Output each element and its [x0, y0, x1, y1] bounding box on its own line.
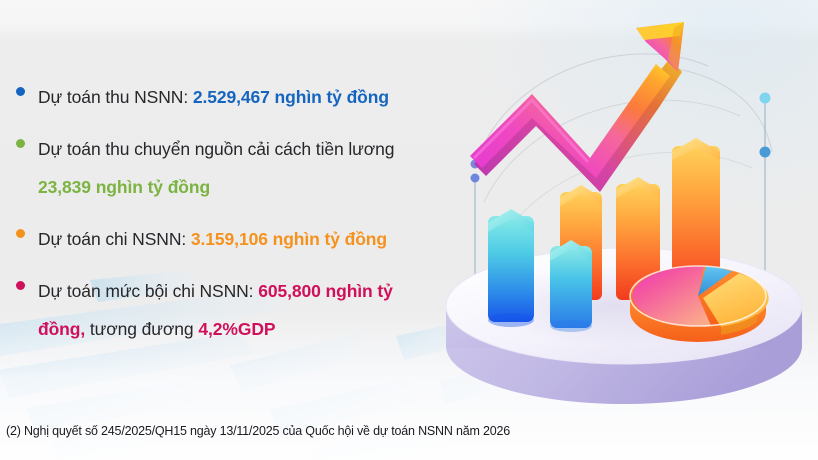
list-item-line: 23,839 nghìn tỷ đồng	[38, 168, 448, 206]
value-text: đồng,	[38, 319, 85, 339]
list-item: Dự toán chi NSNN: 3.159,106 nghìn tỷ đồn…	[8, 220, 448, 258]
bar-cyan-short	[550, 240, 592, 332]
accent-dot-right-upper	[760, 93, 771, 104]
label-text: Dự toán thu NSNN:	[38, 87, 193, 107]
list-item: Dự toán thu chuyển nguồn cải cách tiền l…	[8, 130, 448, 206]
list-item-line: đồng, tương đương 4,2%GDP	[38, 310, 448, 348]
label-text: Dự toán thu chuyển nguồn cải cách tiền l…	[38, 139, 394, 159]
footnote-source: (2) Nghị quyết số 245/2025/QH15 ngày 13/…	[6, 424, 510, 438]
slide-root: Dự toán thu NSNN: 2.529,467 nghìn tỷ đồn…	[0, 0, 818, 460]
bullet-dot-icon	[16, 281, 25, 290]
list-item: Dự toán thu NSNN: 2.529,467 nghìn tỷ đồn…	[8, 78, 448, 116]
value-text: 3.159,106 nghìn tỷ đồng	[191, 229, 387, 249]
bullet-dot-icon	[16, 229, 25, 238]
list-item: Dự toán mức bội chi NSNN: 605,800 nghìn …	[8, 272, 448, 348]
accent-dot-left-lower	[471, 174, 480, 183]
growth-arrow-icon	[470, 22, 684, 192]
value-text: 23,839 nghìn tỷ đồng	[38, 177, 210, 197]
bullet-dot-icon	[16, 87, 25, 96]
illustration-3d-growth-chart	[440, 6, 818, 406]
bar-cyan-tall	[488, 209, 534, 327]
bullet-dot-icon	[16, 139, 25, 148]
label-text: tương đương	[85, 319, 198, 339]
value-text: 4,2%GDP	[198, 319, 275, 339]
budget-figures-list: Dự toán thu NSNN: 2.529,467 nghìn tỷ đồn…	[8, 78, 448, 362]
list-item-line: Dự toán mức bội chi NSNN: 605,800 nghìn …	[38, 272, 448, 310]
list-item-line: Dự toán thu NSNN: 2.529,467 nghìn tỷ đồn…	[38, 78, 448, 116]
list-item-line: Dự toán thu chuyển nguồn cải cách tiền l…	[38, 130, 448, 168]
value-text: 2.529,467 nghìn tỷ đồng	[193, 87, 389, 107]
label-text: Dự toán mức bội chi NSNN:	[38, 281, 258, 301]
accent-dot-right-lower	[760, 147, 771, 158]
pie-chart	[630, 266, 769, 342]
list-item-line: Dự toán chi NSNN: 3.159,106 nghìn tỷ đồn…	[38, 220, 448, 258]
label-text: Dự toán chi NSNN:	[38, 229, 191, 249]
value-text: 605,800 nghìn tỷ	[258, 281, 393, 301]
